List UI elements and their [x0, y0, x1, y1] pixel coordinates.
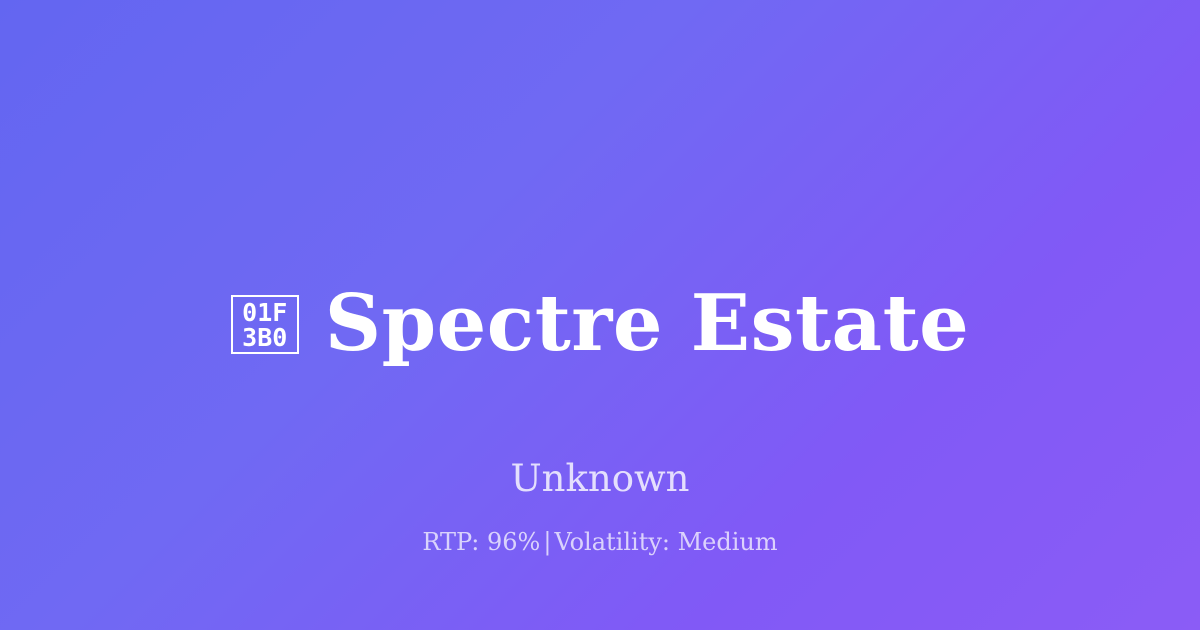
codepoint-line-upper: 01F [242, 300, 287, 325]
meta-separator: | [540, 528, 554, 556]
volatility-value-text: Volatility: Medium [554, 528, 777, 556]
game-provider-subtitle: Unknown [510, 459, 689, 499]
game-share-card: 01F 3B0 Spectre Estate Unknown RTP: 96%|… [0, 0, 1200, 630]
game-meta-line: RTP: 96%|Volatility: Medium [0, 528, 1200, 556]
rtp-value-text: RTP: 96% [422, 528, 540, 556]
codepoint-line-lower: 3B0 [242, 325, 287, 350]
hero-block: 01F 3B0 Spectre Estate Unknown [0, 232, 1200, 499]
page-title: Spectre Estate [325, 284, 969, 364]
title-row: 01F 3B0 Spectre Estate [231, 232, 969, 417]
slot-machine-icon: 01F 3B0 [231, 295, 299, 354]
